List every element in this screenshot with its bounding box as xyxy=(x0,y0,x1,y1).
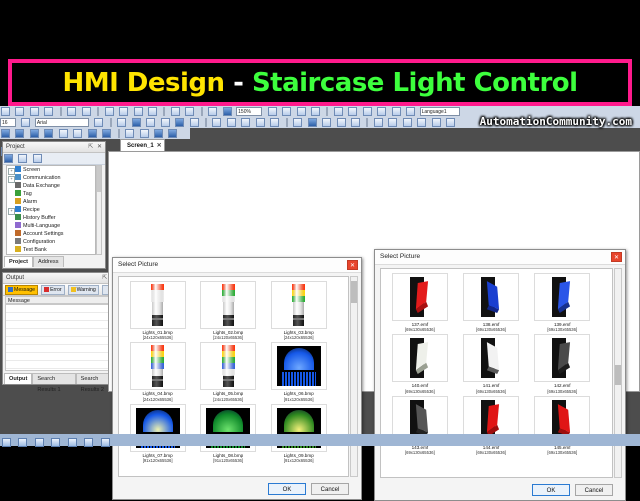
picture-thumbnail[interactable] xyxy=(271,281,327,329)
tab-project[interactable]: Project xyxy=(4,256,33,267)
rocker-switch-graphic xyxy=(407,277,433,317)
picture-size: [24x120x65536] xyxy=(284,335,314,340)
toolbar-separator xyxy=(286,118,288,127)
picture-size: [69x130x65536] xyxy=(405,327,435,332)
save-as-icon[interactable] xyxy=(44,107,53,116)
dialog-1-titlebar: Select Picture ✕ xyxy=(113,258,361,273)
language-combo[interactable]: Language1 xyxy=(420,107,460,116)
toolbar-drawing-filler xyxy=(190,128,640,139)
same-size-status-icon[interactable] xyxy=(68,438,77,447)
picture-tool-icon[interactable] xyxy=(102,129,111,138)
ok-button[interactable]: OK xyxy=(268,483,306,495)
rocker-switch-graphic xyxy=(478,338,504,378)
picture-size: [24x120x65536] xyxy=(143,335,173,340)
dialog-1-buttons: OK Cancel xyxy=(268,483,349,495)
find-icon[interactable] xyxy=(148,107,157,116)
status-bar xyxy=(0,434,640,446)
picture-thumbnail[interactable] xyxy=(200,342,256,390)
tree-item-picture-bank[interactable]: Picture Bank xyxy=(7,254,95,255)
picture-item[interactable]: 142.emf[69x130x65536] xyxy=(528,334,596,393)
output-panel: Output ⇱ ✕ Message Error Warning Messag xyxy=(2,272,120,385)
rotate-right-icon[interactable] xyxy=(348,107,357,116)
zoom-dropdown-icon[interactable] xyxy=(268,107,277,116)
tree-node-icon xyxy=(15,238,21,244)
stack-light-graphic xyxy=(151,284,164,326)
new-project-icon[interactable] xyxy=(4,154,13,163)
toolbar-drawing xyxy=(0,128,190,139)
dialog-2-title: Select Picture xyxy=(380,253,420,260)
picture-thumbnail[interactable] xyxy=(130,281,186,329)
tree-item-alarm[interactable]: Alarm xyxy=(7,198,95,206)
redo-icon[interactable] xyxy=(82,107,91,116)
close-icon[interactable]: ✕ xyxy=(347,260,358,270)
project-panel-title: Project ⇱ ✕ xyxy=(3,142,105,153)
table-tool-icon[interactable] xyxy=(88,129,97,138)
select-picture-dialog-2: Select Picture ✕ 137.emf[69x130x65536]13… xyxy=(374,249,626,501)
picture-size: [69x130x65536] xyxy=(405,389,435,394)
cancel-button[interactable]: Cancel xyxy=(311,483,349,495)
tab-screen-1-label: Screen_1 xyxy=(127,143,154,149)
output-message-list[interactable] xyxy=(5,304,117,371)
toolbar-separator xyxy=(205,118,207,127)
toggle-switch-object-icon[interactable] xyxy=(140,129,149,138)
toolbar-separator xyxy=(97,107,99,116)
beacon-light-graphic xyxy=(277,346,321,386)
tab-output[interactable]: Output xyxy=(4,373,32,384)
tree-item-label: Screen xyxy=(23,167,40,173)
picture-item[interactable]: 139.emf[69x130x65536] xyxy=(528,273,596,332)
tree-item-account-settings[interactable]: Account Settings xyxy=(7,230,95,238)
dialog-1-picture-list[interactable]: Lights_01.bmp[24x120x65536]Lights_02.bmp… xyxy=(118,276,349,477)
flip-vertical-icon[interactable] xyxy=(377,107,386,116)
text-align-left-icon[interactable] xyxy=(117,118,126,127)
font-size-combo[interactable]: 16 xyxy=(0,118,16,127)
zoom-level-combo[interactable]: 150% xyxy=(236,107,262,116)
toolbar-separator xyxy=(366,118,368,127)
picture-item[interactable]: Lights_06.bmp[91x120x65536] xyxy=(265,342,332,401)
picture-thumbnail[interactable] xyxy=(200,281,256,329)
download-icon[interactable] xyxy=(185,107,194,116)
rocker-switch-graphic xyxy=(549,277,575,317)
tree-item-multi-language[interactable]: Multi-Language xyxy=(7,222,95,230)
group-icon[interactable] xyxy=(392,107,401,116)
tree-item-tag[interactable]: Tag xyxy=(7,190,95,198)
picture-thumbnail[interactable] xyxy=(130,342,186,390)
dialog-1-scrollbar[interactable] xyxy=(350,276,358,477)
tab-address[interactable]: Address xyxy=(33,256,64,267)
screenshot-root: HMI Design - Staircase Light Control xyxy=(0,0,640,480)
tree-node-icon xyxy=(15,174,21,180)
undo-icon[interactable] xyxy=(67,107,76,116)
picture-thumbnail[interactable] xyxy=(534,334,590,382)
project-tree[interactable]: +Screen+CommunicationData ExchangeTagAla… xyxy=(6,165,96,255)
output-column-header: Message xyxy=(5,296,117,304)
ok-button[interactable]: OK xyxy=(532,484,570,496)
picture-thumbnail[interactable] xyxy=(463,334,519,382)
line-style-icon[interactable] xyxy=(293,118,302,127)
filter-error-button[interactable]: Error xyxy=(41,285,65,295)
tree-node-icon xyxy=(15,198,21,204)
line-tool-icon[interactable] xyxy=(59,129,68,138)
align-left-objects-icon[interactable] xyxy=(322,118,331,127)
same-height-icon[interactable] xyxy=(417,118,426,127)
spacing-status-icon[interactable] xyxy=(84,438,93,447)
align-left-status-icon[interactable] xyxy=(2,438,11,447)
filter-error-label: Error xyxy=(50,286,62,294)
tree-collapse-icon[interactable] xyxy=(18,154,27,163)
output-panel-title-text: Output xyxy=(6,275,24,281)
bold-icon[interactable] xyxy=(241,118,250,127)
close-icon[interactable]: ✕ xyxy=(611,252,622,262)
picture-item[interactable]: 145.emf[69x130x65536] xyxy=(528,396,596,455)
stack-light-graphic xyxy=(222,284,235,326)
toolbar-separator xyxy=(60,107,62,116)
tree-item-label: Recipe xyxy=(23,207,40,213)
tree-node-icon xyxy=(15,166,21,172)
title-part-1: HMI Design xyxy=(62,68,224,98)
align-center-status-icon[interactable] xyxy=(18,438,27,447)
picture-thumbnail[interactable] xyxy=(534,273,590,321)
button-object-icon[interactable] xyxy=(125,129,134,138)
zoom-out-icon[interactable] xyxy=(297,107,306,116)
tree-node-icon xyxy=(15,206,21,212)
picture-thumbnail[interactable] xyxy=(392,334,448,382)
title-part-2: Staircase Light Control xyxy=(252,68,578,98)
tree-node-icon xyxy=(15,246,21,252)
application-window: 150% Language1 16 Arial xyxy=(0,106,640,446)
picture-size: [69x130x65536] xyxy=(476,327,506,332)
picture-item[interactable]: 143.emf[69x130x65536] xyxy=(386,396,454,455)
tree-item-history-buffer[interactable]: History Buffer xyxy=(7,214,95,222)
editor-tabstrip: Screen_1 ✕ xyxy=(108,139,640,151)
filter-message-label: Message xyxy=(14,286,35,294)
page-title: HMI Design - Staircase Light Control xyxy=(62,68,577,98)
zoom-in-icon[interactable] xyxy=(282,107,291,116)
picture-item[interactable]: Lights_01.bmp[24x120x65536] xyxy=(124,281,191,340)
text-color-icon[interactable] xyxy=(175,118,184,127)
picture-item[interactable]: Lights_05.bmp[24x120x65536] xyxy=(195,342,262,401)
toolbar-separator xyxy=(201,107,203,116)
picture-thumbnail[interactable] xyxy=(463,273,519,321)
tree-item-communication[interactable]: +Communication xyxy=(7,174,95,182)
text-align-right-icon[interactable] xyxy=(146,118,155,127)
print-icon[interactable] xyxy=(208,107,217,116)
text-bottom-align-icon[interactable] xyxy=(190,118,199,127)
picture-size: [91x120x65536] xyxy=(284,458,314,463)
text-top-align-icon[interactable] xyxy=(161,118,170,127)
align-h-status-icon[interactable] xyxy=(35,438,44,447)
tree-item-text-bank[interactable]: Text Bank xyxy=(7,246,95,254)
stack-light-graphic xyxy=(222,345,235,387)
project-tree-toolbar xyxy=(3,153,105,165)
tree-node-icon xyxy=(15,230,21,236)
rocker-switch-graphic xyxy=(407,338,433,378)
align-center-objects-icon[interactable] xyxy=(337,118,346,127)
rotate-left-icon[interactable] xyxy=(334,107,343,116)
rocker-switch-graphic xyxy=(549,338,575,378)
picture-item[interactable]: 140.emf[69x130x65536] xyxy=(386,334,454,393)
title-banner-inner: HMI Design - Staircase Light Control xyxy=(12,63,628,102)
picture-size: [69x130x65536] xyxy=(405,450,435,455)
rectangle-tool-icon[interactable] xyxy=(15,129,24,138)
picture-item[interactable]: Lights_03.bmp[24x120x65536] xyxy=(265,281,332,340)
picture-size: [69x130x65536] xyxy=(547,450,577,455)
text-highlight-icon[interactable] xyxy=(132,118,141,127)
send-back-icon[interactable] xyxy=(446,118,455,127)
picture-item[interactable]: 138.emf[69x130x65536] xyxy=(457,273,525,332)
dialog-1-title: Select Picture xyxy=(118,261,158,268)
project-panel: Project ⇱ ✕ +Screen+CommunicationData Ex… xyxy=(2,141,106,269)
save-icon[interactable] xyxy=(30,107,39,116)
output-panel-title: Output ⇱ ✕ xyxy=(3,273,119,284)
tree-item-configuration[interactable]: Configuration xyxy=(7,238,95,246)
compile-icon[interactable] xyxy=(171,107,180,116)
title-banner: HMI Design - Staircase Light Control xyxy=(8,59,632,106)
stack-light-graphic xyxy=(292,284,305,326)
italic-icon[interactable] xyxy=(256,118,265,127)
font-size-dropdown-icon[interactable] xyxy=(21,118,30,127)
tree-node-icon xyxy=(15,182,21,188)
stack-light-graphic xyxy=(151,345,164,387)
font-family-combo[interactable]: Arial xyxy=(35,118,89,127)
dialog-2-scrollbar[interactable] xyxy=(614,268,622,478)
picture-size: [24x120x65536] xyxy=(213,335,243,340)
tree-item-label: Configuration xyxy=(23,239,55,245)
fill-color-icon[interactable] xyxy=(308,118,317,127)
ungroup-icon[interactable] xyxy=(406,107,415,116)
message-icon xyxy=(8,287,13,292)
tree-item-data-exchange[interactable]: Data Exchange xyxy=(7,182,95,190)
title-separator: - xyxy=(225,68,252,98)
open-file-icon[interactable] xyxy=(15,107,24,116)
picture-size: [69x130x65536] xyxy=(476,389,506,394)
same-width-icon[interactable] xyxy=(403,118,412,127)
tree-item-label: Text Bank xyxy=(23,247,47,253)
font-color-icon[interactable] xyxy=(212,118,221,127)
grid-status-icon[interactable] xyxy=(101,438,110,447)
picture-item[interactable]: Lights_04.bmp[24x120x65536] xyxy=(124,342,191,401)
dialog-2-buttons: OK Cancel xyxy=(532,484,613,496)
ellipse-tool-icon[interactable] xyxy=(30,129,39,138)
tree-node-icon xyxy=(15,254,21,255)
tree-item-label: Tag xyxy=(23,191,32,197)
pen-tool-icon[interactable] xyxy=(1,129,10,138)
tree-item-label: Multi-Language xyxy=(23,223,60,229)
picture-size: [91x120x65536] xyxy=(143,458,173,463)
underline-icon[interactable] xyxy=(270,118,279,127)
font-color-dropdown-icon[interactable] xyxy=(227,118,236,127)
tree-node-icon xyxy=(15,190,21,196)
new-file-icon[interactable] xyxy=(1,107,10,116)
tree-item-label: Data Exchange xyxy=(23,183,60,189)
text-tool-icon[interactable] xyxy=(73,129,82,138)
project-panel-title-text: Project xyxy=(6,144,25,150)
toolbar-separator xyxy=(163,107,165,116)
picture-item[interactable]: 137.emf[69x130x65536] xyxy=(386,273,454,332)
toolbar-separator xyxy=(118,129,120,138)
distribute-horizontal-icon[interactable] xyxy=(374,118,383,127)
tree-node-icon xyxy=(15,222,21,228)
numeric-display-icon[interactable] xyxy=(168,129,177,138)
toolbar-separator xyxy=(110,118,112,127)
cancel-button[interactable]: Cancel xyxy=(575,484,613,496)
filter-warning-button[interactable]: Warning xyxy=(68,285,99,295)
picture-size: [24x120x65536] xyxy=(213,397,243,402)
tree-item-label: Alarm xyxy=(23,199,37,205)
filter-warning-label: Warning xyxy=(77,286,96,294)
bring-front-icon[interactable] xyxy=(432,118,441,127)
picture-thumbnail[interactable] xyxy=(392,273,448,321)
project-tree-scrollbar[interactable] xyxy=(96,165,102,255)
select-picture-dialog-1: Select Picture ✕ Lights_01.bmp[24x120x65… xyxy=(112,257,362,500)
picture-size: [69x130x65536] xyxy=(476,450,506,455)
tree-expand-icon[interactable] xyxy=(33,154,42,163)
font-family-dropdown-icon[interactable] xyxy=(94,118,103,127)
lamp-object-icon[interactable] xyxy=(154,129,163,138)
picture-item[interactable]: 141.emf[69x130x65536] xyxy=(457,334,525,393)
picture-size: [91x120x65536] xyxy=(284,397,314,402)
tree-node-icon xyxy=(15,214,21,220)
picture-item[interactable]: 144.emf[69x130x65536] xyxy=(457,396,525,455)
simulate-icon[interactable] xyxy=(223,107,232,116)
rocker-switch-graphic xyxy=(478,277,504,317)
zoom-fit-icon[interactable] xyxy=(311,107,320,116)
filter-message-button[interactable]: Message xyxy=(5,285,38,295)
toolbar-separator xyxy=(326,107,328,116)
output-panel-tabs[interactable]: Output Search Results 1 Search Results 2 xyxy=(4,373,119,384)
project-panel-tabs[interactable]: Project Address xyxy=(4,256,64,267)
watermark: AutomationCommunity.com xyxy=(480,115,632,128)
warning-icon xyxy=(71,287,76,292)
picture-size: [69x130x65536] xyxy=(547,327,577,332)
align-right-objects-icon[interactable] xyxy=(351,118,360,127)
tree-item-screen[interactable]: +Screen xyxy=(7,166,95,174)
copy-icon[interactable] xyxy=(119,107,128,116)
paste-icon[interactable] xyxy=(134,107,143,116)
distribute-vertical-icon[interactable] xyxy=(388,118,397,127)
cut-icon[interactable] xyxy=(105,107,114,116)
tree-item-label: Account Settings xyxy=(23,231,63,237)
error-icon xyxy=(44,287,49,292)
picture-size: [69x130x65536] xyxy=(547,389,577,394)
picture-thumbnail[interactable] xyxy=(271,342,327,390)
tab-search-results-1[interactable]: Search Results 1 xyxy=(32,373,75,384)
align-v-status-icon[interactable] xyxy=(51,438,60,447)
tree-item-label: Communication xyxy=(23,175,60,181)
project-panel-buttons[interactable]: ⇱ ✕ xyxy=(88,142,103,152)
dialog-2-titlebar: Select Picture ✕ xyxy=(375,250,625,265)
tree-item-recipe[interactable]: +Recipe xyxy=(7,206,95,214)
tree-item-label: History Buffer xyxy=(23,215,56,221)
flip-horizontal-icon[interactable] xyxy=(363,107,372,116)
polygon-tool-icon[interactable] xyxy=(44,129,53,138)
picture-size: [91x120x65536] xyxy=(213,458,243,463)
dialog-2-picture-list[interactable]: 137.emf[69x130x65536]138.emf[69x130x6553… xyxy=(380,268,613,478)
picture-item[interactable]: Lights_02.bmp[24x120x65536] xyxy=(195,281,262,340)
output-filter-toolbar: Message Error Warning xyxy=(3,284,119,296)
picture-size: [24x120x65536] xyxy=(143,397,173,402)
